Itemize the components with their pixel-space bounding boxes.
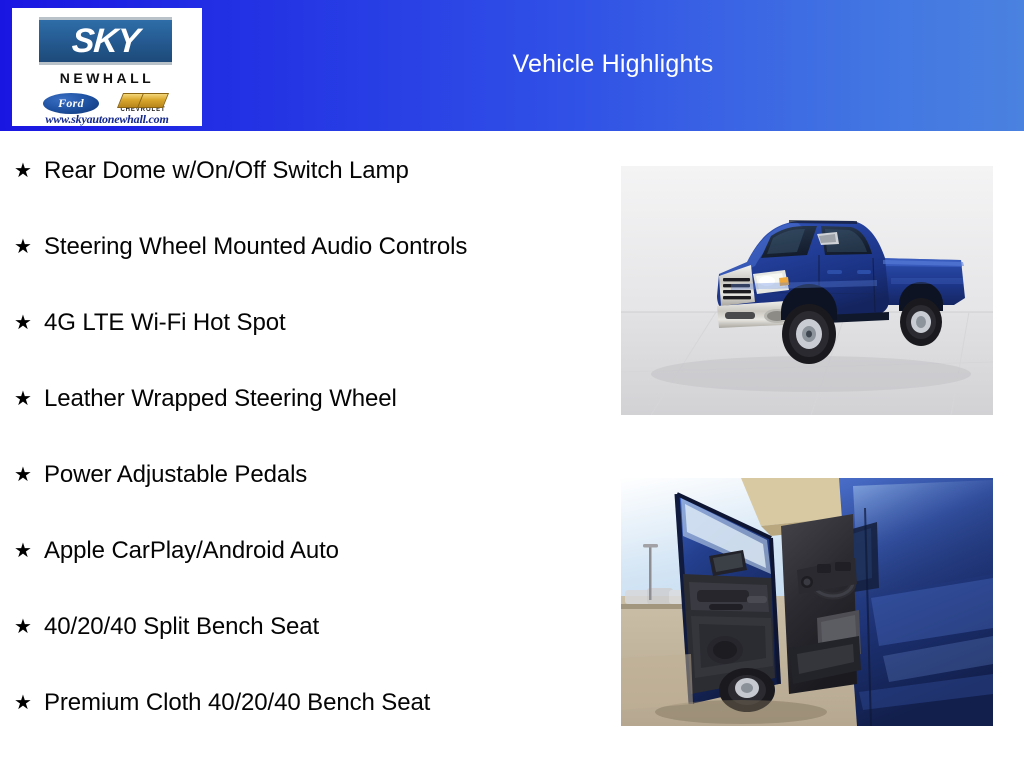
star-icon: ★ — [14, 230, 44, 264]
dealer-logo: SKY NEWHALL Ford CHEVROLET www.skyautone… — [12, 8, 202, 126]
list-item-label: Rear Dome w/On/Off Switch Lamp — [44, 154, 474, 188]
list-item: ★ Steering Wheel Mounted Audio Controls — [0, 230, 600, 264]
slide-header: SKY NEWHALL Ford CHEVROLET www.skyautone… — [0, 0, 1024, 131]
star-icon: ★ — [14, 534, 44, 568]
sky-brand-plate: SKY — [39, 17, 172, 65]
dealer-website-url: www.skyautonewhall.com — [12, 112, 202, 126]
slide-root: SKY NEWHALL Ford CHEVROLET www.skyautone… — [0, 0, 1024, 768]
chevrolet-bowtie-icon — [120, 93, 166, 106]
dealer-location-text: NEWHALL — [12, 70, 202, 86]
list-item-label: Premium Cloth 40/20/40 Bench Seat — [44, 686, 474, 720]
list-item: ★ Rear Dome w/On/Off Switch Lamp — [0, 154, 600, 188]
vehicle-highlights-list: ★ Rear Dome w/On/Off Switch Lamp ★ Steer… — [0, 131, 600, 762]
list-item: ★ Power Adjustable Pedals — [0, 458, 600, 492]
chevrolet-logo-icon: CHEVROLET — [114, 93, 172, 113]
list-item-label: Steering Wheel Mounted Audio Controls — [44, 230, 474, 264]
star-icon: ★ — [14, 154, 44, 188]
list-item: ★ Leather Wrapped Steering Wheel — [0, 382, 600, 416]
list-item: ★ Premium Cloth 40/20/40 Bench Seat — [0, 686, 600, 720]
ford-logo-label: Ford — [58, 96, 84, 111]
list-item: ★ 40/20/40 Split Bench Seat — [0, 610, 600, 644]
vehicle-exterior-illustration — [621, 166, 993, 415]
star-icon: ★ — [14, 686, 44, 720]
list-item: ★ 4G LTE Wi-Fi Hot Spot — [0, 306, 600, 340]
list-item-label: 40/20/40 Split Bench Seat — [44, 610, 474, 644]
list-item: ★ Apple CarPlay/Android Auto — [0, 534, 600, 568]
star-icon: ★ — [14, 610, 44, 644]
vehicle-exterior-photo — [621, 166, 993, 415]
sky-brand-text: SKY — [71, 24, 140, 58]
vehicle-interior-photo — [621, 478, 993, 726]
star-icon: ★ — [14, 382, 44, 416]
list-item-label: 4G LTE Wi-Fi Hot Spot — [44, 306, 474, 340]
star-icon: ★ — [14, 306, 44, 340]
list-item-label: Leather Wrapped Steering Wheel — [44, 382, 474, 416]
page-title: Vehicle Highlights — [202, 50, 1024, 79]
list-item-label: Apple CarPlay/Android Auto — [44, 534, 474, 568]
vehicle-interior-illustration — [621, 478, 993, 726]
list-item-label: Power Adjustable Pedals — [44, 458, 474, 492]
star-icon: ★ — [14, 458, 44, 492]
